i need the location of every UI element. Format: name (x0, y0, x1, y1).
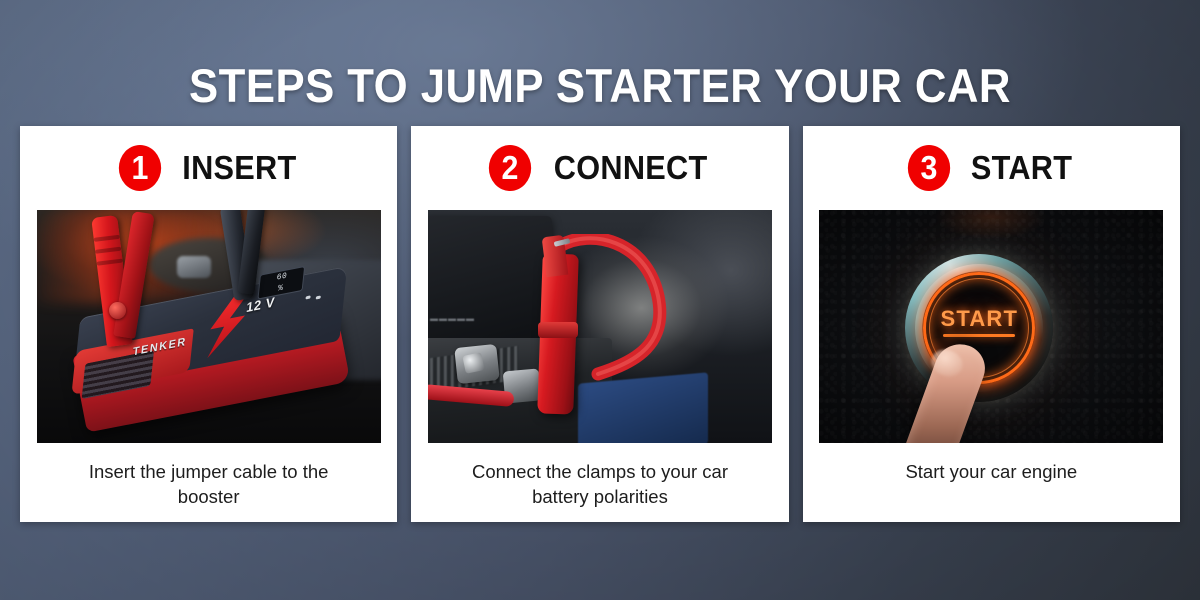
step-header-2: 2 CONNECT (411, 126, 788, 210)
terminal-bolt-icon (462, 352, 484, 374)
step-card-start[interactable]: 3 START START Start your car engine (803, 126, 1180, 522)
step-caption-1: Insert the jumper cable to the booster (59, 459, 359, 509)
step-photo-3: START (819, 210, 1163, 443)
step-number-badge-1: 1 (119, 145, 161, 191)
page-title: STEPS TO JUMP STARTER YOUR CAR (42, 61, 1158, 111)
step-card-connect[interactable]: 2 CONNECT ▬▬▬▬▬ Conn (411, 126, 788, 522)
steps-container: 1 INSERT TENKER 12 V 60 % (20, 126, 1180, 522)
step-header-1: 1 INSERT (20, 126, 397, 210)
clamp-pivot-rivet-icon (109, 302, 126, 319)
start-button-text[interactable]: START (923, 306, 1035, 332)
step-photo-2: ▬▬▬▬▬ (428, 210, 772, 443)
step-label-2: CONNECT (554, 149, 708, 187)
step-number-badge-3: 3 (908, 145, 950, 191)
step-caption-2: Connect the clamps to your car battery p… (450, 459, 750, 509)
step-photo-1: TENKER 12 V 60 % (37, 210, 381, 443)
step-label-3: START (971, 149, 1072, 187)
step-header-3: 3 START (803, 126, 1180, 210)
step-label-1: INSERT (182, 149, 296, 187)
step-caption-3: Start your car engine (841, 459, 1141, 484)
step-number-badge-2: 2 (489, 145, 531, 191)
clamp-grip-ring-icon (538, 322, 578, 338)
start-button-underline-icon (943, 334, 1015, 337)
battery-cover-icon (428, 216, 552, 342)
engine-cap-icon (177, 256, 211, 278)
battery-cover-label: ▬▬▬▬▬ (430, 314, 475, 323)
step-card-insert[interactable]: 1 INSERT TENKER 12 V 60 % (20, 126, 397, 522)
